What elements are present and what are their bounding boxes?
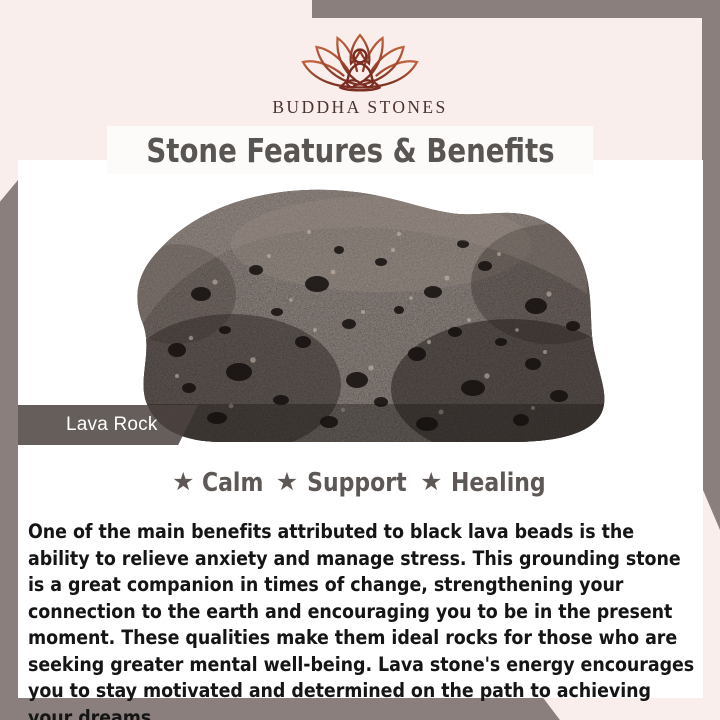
star-icon: ★	[172, 470, 194, 495]
star-icon: ★	[420, 470, 442, 495]
description-paragraph: One of the main benefits attributed to b…	[28, 519, 700, 720]
benefit-label: Healing	[451, 468, 546, 498]
star-icon: ★	[276, 470, 298, 495]
brand-block: BUDDHA STONES	[0, 18, 720, 138]
brand-name: BUDDHA STONES	[272, 97, 447, 118]
infographic-page: BUDDHA STONES	[0, 0, 720, 720]
frame-bar-left	[0, 180, 18, 720]
lotus-meditation-icon	[285, 18, 435, 94]
benefits-row: ★ Calm ★ Support ★ Healing	[18, 468, 703, 498]
benefit-item-calm: ★ Calm	[172, 468, 266, 498]
benefit-item-healing: ★ Healing	[420, 468, 549, 498]
hero-caption-label: Lava Rock	[66, 414, 158, 436]
benefit-label: Support	[307, 468, 406, 498]
benefit-item-support: ★ Support	[276, 468, 410, 498]
frame-bar-top-right	[312, 0, 720, 18]
page-title-banner: Stone Features & Benefits	[107, 126, 593, 174]
benefit-label: Calm	[202, 468, 263, 498]
hero-caption-band: Lava Rock	[18, 405, 198, 445]
page-title: Stone Features & Benefits	[146, 131, 554, 170]
